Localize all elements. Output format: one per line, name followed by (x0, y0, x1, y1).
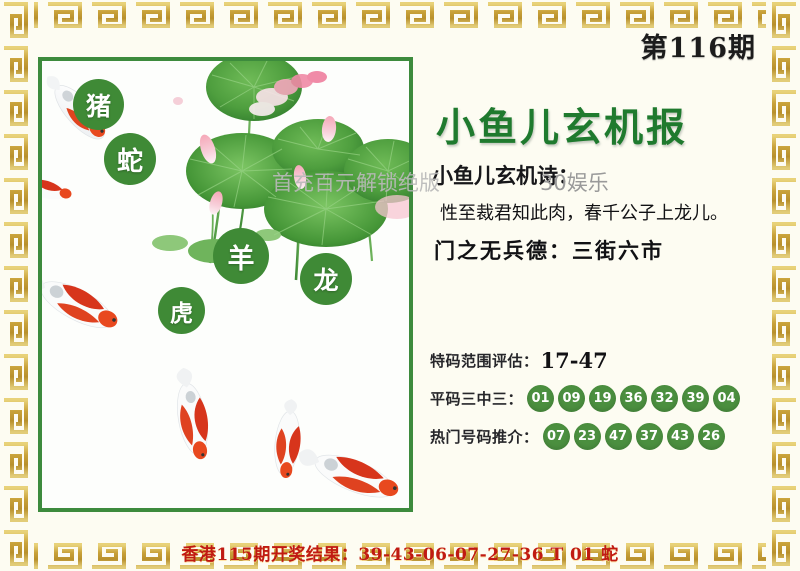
illustration-canvas: 猪 蛇 羊 虎 龙 (42, 61, 409, 508)
border-left-greek-key (0, 0, 34, 571)
border-right-greek-key (766, 0, 800, 571)
koi-fish (42, 159, 80, 219)
number-ball[interactable]: 39 (682, 385, 709, 412)
number-ball[interactable]: 32 (651, 385, 678, 412)
number-ball[interactable]: 43 (667, 423, 694, 450)
poem-line-2: 门之无兵德：三街六市 (434, 235, 778, 265)
number-ball[interactable]: 01 (527, 385, 554, 412)
zodiac-circle-yang[interactable]: 羊 (213, 228, 269, 284)
row-hot-numbers: 热门号码推介： 07 23 47 37 43 26 (430, 422, 780, 450)
illustration-panel: 猪 蛇 羊 虎 龙 (38, 57, 413, 512)
zodiac-label: 龙 (313, 261, 338, 297)
number-ball[interactable]: 47 (605, 423, 632, 450)
zodiac-circle-long[interactable]: 龙 (300, 253, 352, 305)
number-ball[interactable]: 09 (558, 385, 585, 412)
number-ball[interactable]: 23 (574, 423, 601, 450)
number-ball[interactable]: 36 (620, 385, 647, 412)
row-ping-ma: 平码三中三： 01 09 19 36 32 39 04 (430, 384, 780, 412)
hot-numbers-label: 热门号码推介： (430, 426, 539, 447)
koi-fish (138, 357, 248, 487)
result-banner: 香港115期开奖结果：39-43-06-07-27-36 T 01 蛇 (34, 539, 766, 565)
ping-ma-label: 平码三中三： (430, 388, 523, 409)
zodiac-label: 蛇 (117, 141, 143, 178)
number-ball[interactable]: 26 (698, 423, 725, 450)
watermark-right-text: 30娱乐 (540, 167, 609, 197)
number-ball[interactable]: 07 (543, 423, 570, 450)
predictions-block: 特码范围评估： 17-47 平码三中三： 01 09 19 36 32 39 0… (430, 346, 780, 460)
koi-fish (294, 423, 409, 508)
zodiac-label: 猪 (86, 87, 111, 123)
result-banner-text: 香港115期开奖结果：39-43-06-07-27-36 T 01 蛇 (181, 540, 618, 565)
zodiac-circle-hu[interactable]: 虎 (158, 287, 205, 334)
number-ball[interactable]: 37 (636, 423, 663, 450)
number-ball[interactable]: 04 (713, 385, 740, 412)
special-range-label: 特码范围评估： (430, 350, 539, 371)
watermark-left-text: 首充百元解锁绝版 (272, 167, 440, 197)
poem-line-1: 性至裁君知此肉，春千公子上龙儿。 (440, 199, 778, 225)
poster-root: 第116期 (0, 0, 800, 571)
number-ball[interactable]: 19 (589, 385, 616, 412)
zodiac-circle-zhu[interactable]: 猪 (73, 79, 124, 130)
issue-number: 第116期 (641, 26, 756, 65)
zodiac-label: 虎 (170, 294, 193, 328)
row-special-range: 特码范围评估： 17-47 (430, 346, 780, 374)
page-title: 小鱼儿玄机报 (436, 97, 688, 153)
koi-fish (42, 256, 148, 361)
zodiac-label: 羊 (228, 237, 255, 276)
special-range-value: 17-47 (541, 348, 608, 373)
zodiac-circle-she[interactable]: 蛇 (104, 133, 156, 185)
